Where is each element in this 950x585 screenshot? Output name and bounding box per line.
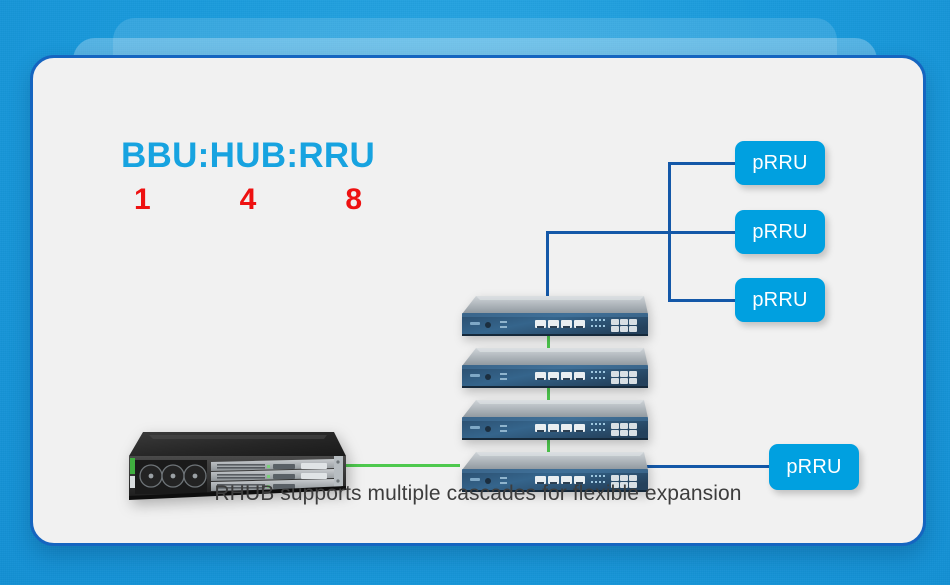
prru-label: pRRU xyxy=(752,289,807,312)
ratio-row: 1 4 8 xyxy=(108,185,388,215)
caption-text: RHUB supports multiple cascades for flex… xyxy=(33,482,923,506)
diagram-canvas: BBU:HUB:RRU 1 4 8 pRRU pRRU pRRU xyxy=(0,0,950,585)
wire-vertical-trunk xyxy=(668,162,671,302)
page-title: BBU:HUB:RRU xyxy=(108,138,388,173)
wire-branch-prru-3 xyxy=(668,299,738,302)
prru-label: pRRU xyxy=(752,152,807,175)
wire-branch-prru-4 xyxy=(633,465,773,468)
wire-branch-prru-1 xyxy=(668,162,738,165)
network-switch-icon-2 xyxy=(458,344,648,392)
headline-block: BBU:HUB:RRU 1 4 8 xyxy=(108,138,388,215)
network-switch-icon-1 xyxy=(458,292,648,340)
ratio-hub: 4 xyxy=(240,185,257,215)
prru-node-3[interactable]: pRRU xyxy=(735,278,825,322)
prru-node-1[interactable]: pRRU xyxy=(735,141,825,185)
wire-bbu-to-switch xyxy=(338,464,460,467)
ratio-rru: 8 xyxy=(345,185,362,215)
prru-label: pRRU xyxy=(786,456,841,479)
prru-node-2[interactable]: pRRU xyxy=(735,210,825,254)
ratio-bbu: 1 xyxy=(134,185,151,215)
wire-horizontal-mid xyxy=(546,231,738,234)
network-switch-icon-3 xyxy=(458,396,648,444)
content-panel: BBU:HUB:RRU 1 4 8 pRRU pRRU pRRU xyxy=(30,55,926,546)
prru-label: pRRU xyxy=(752,221,807,244)
